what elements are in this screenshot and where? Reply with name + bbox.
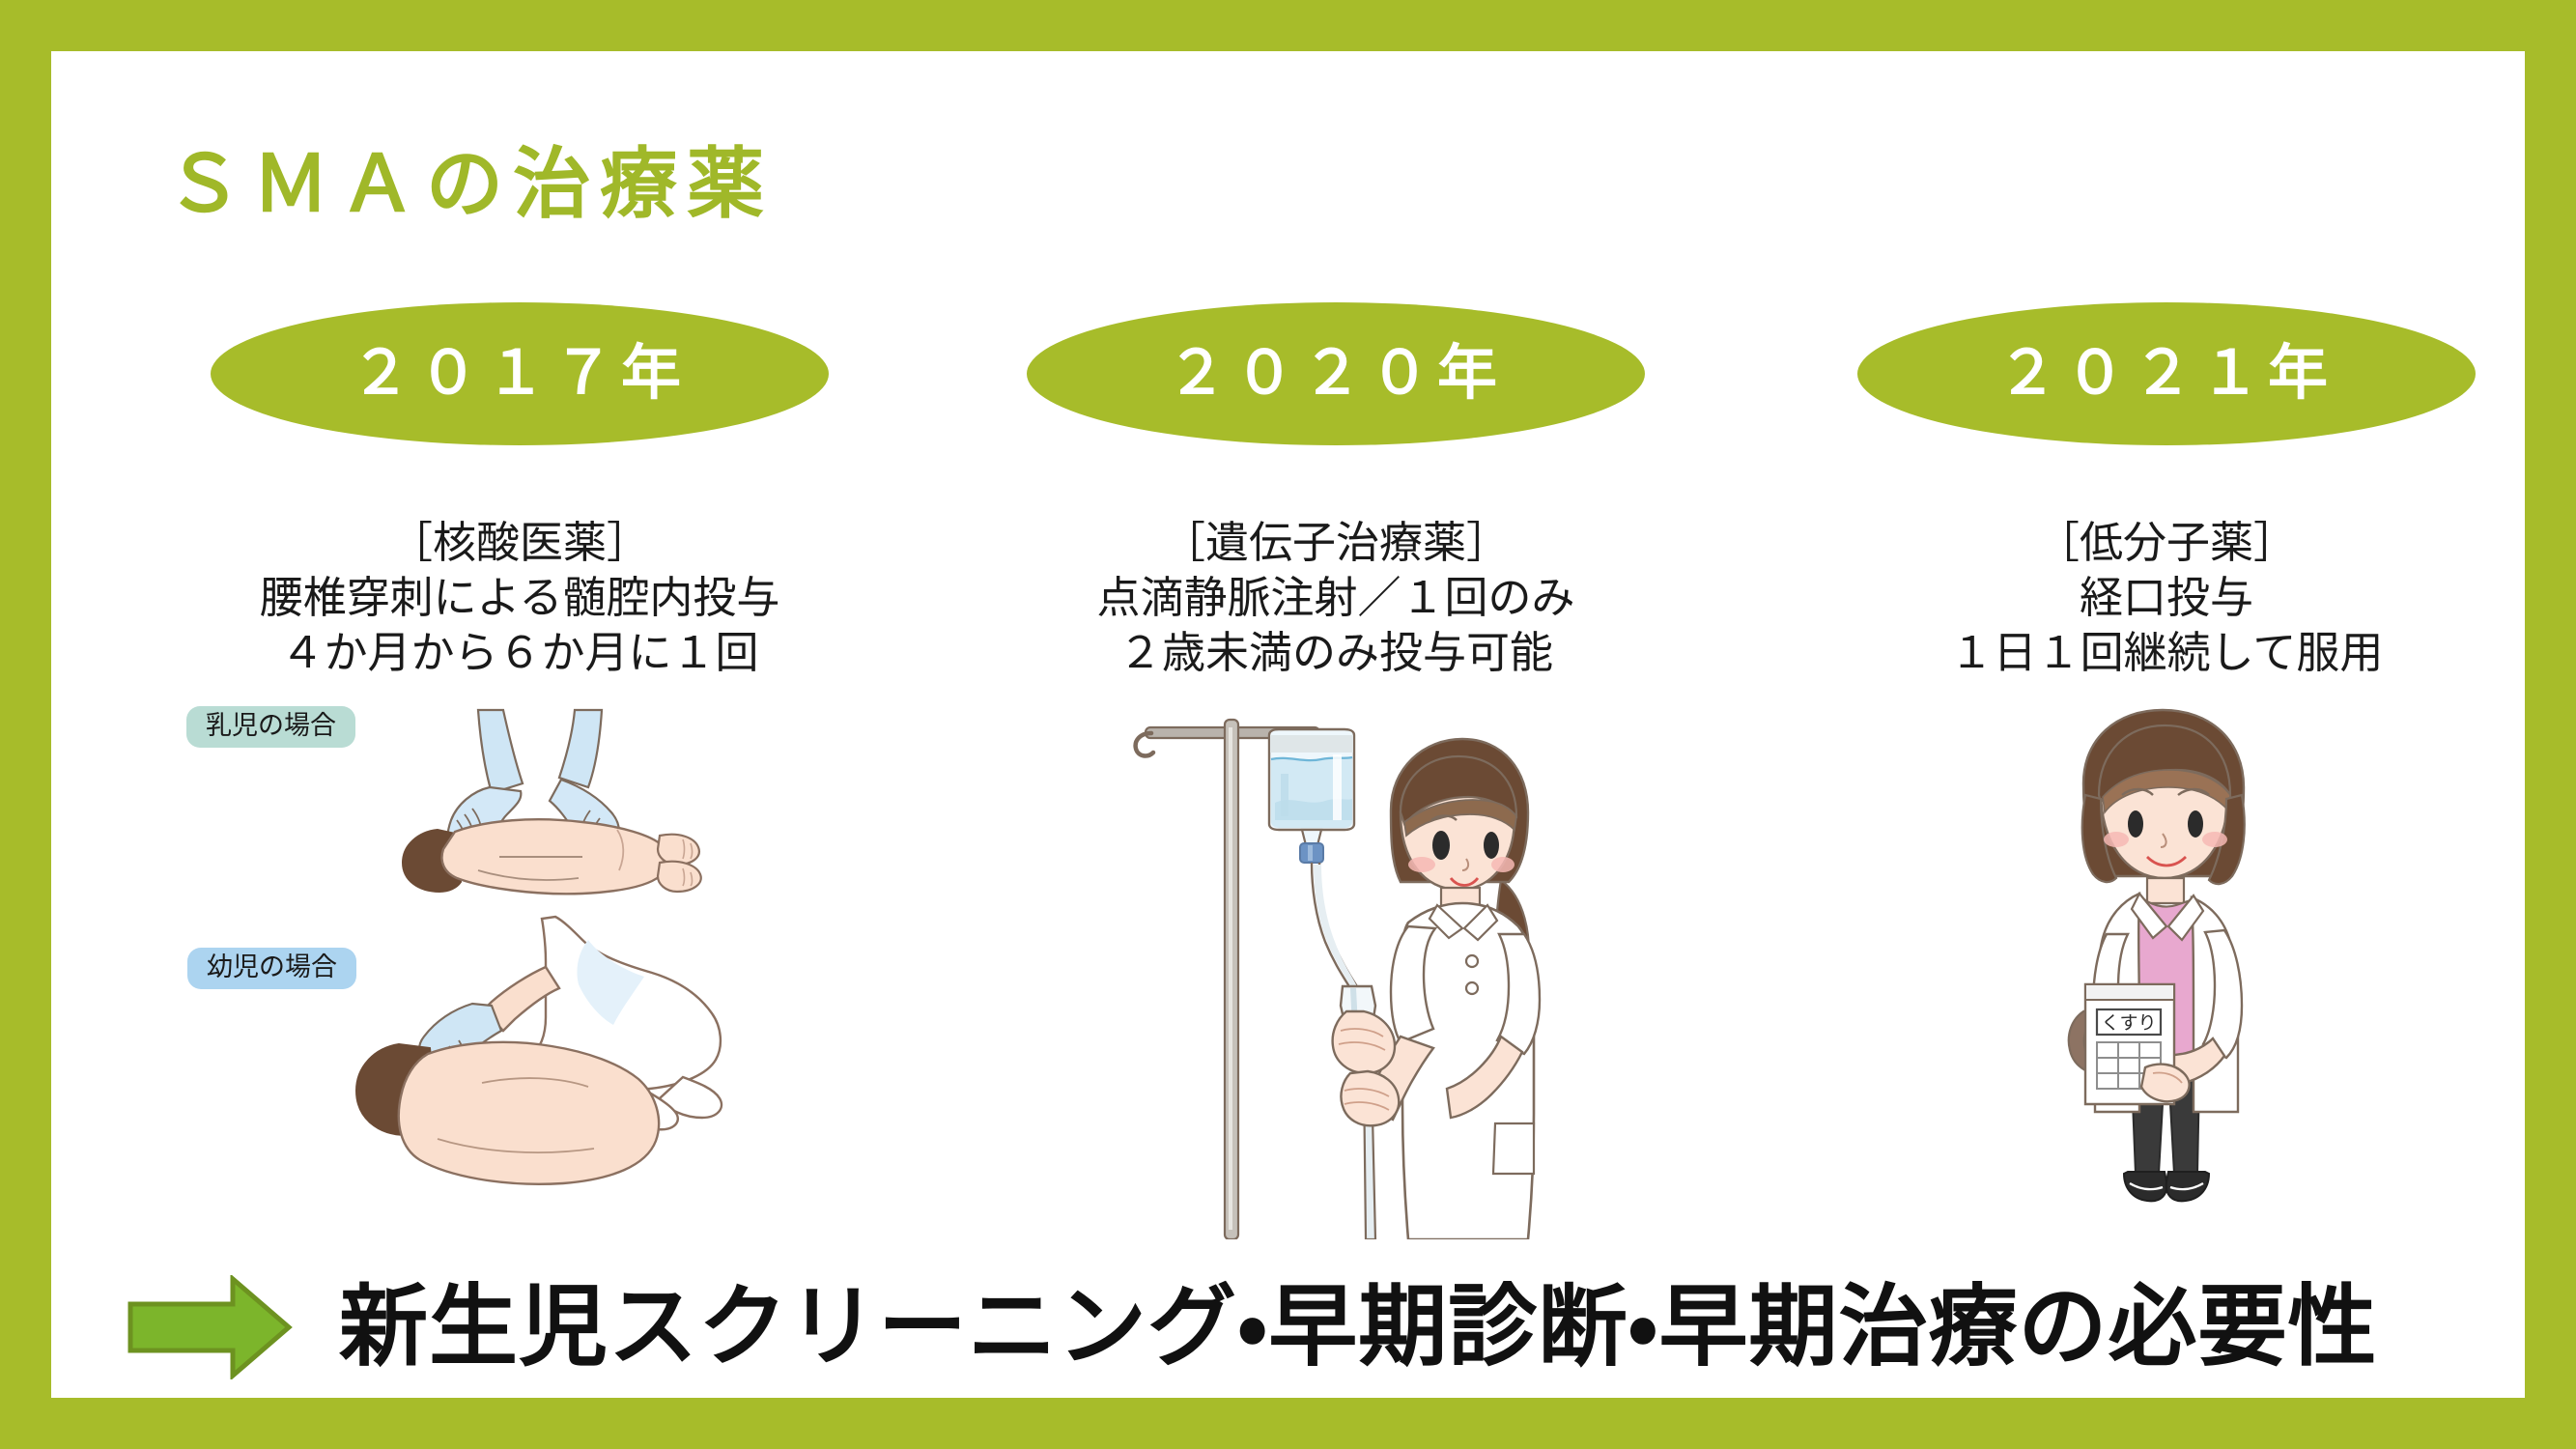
treatment-column-2020: ２０２０年 ［遺伝子治療薬］ 点滴静脈注射／１回のみ ２歳未満のみ投与可能 (949, 283, 1722, 1297)
treatment-description-2021: ［低分子薬］ 経口投与 １日１回継続して服用 (1780, 515, 2553, 680)
packet-label: くすり (2101, 1013, 2156, 1034)
right-arrow-icon (127, 1275, 293, 1379)
year-pill-2021: ２０２１年 (1857, 302, 2476, 445)
treatment-description-2017: ［核酸医薬］ 腰椎穿刺による髄腔内投与 ４か月から６か月に１回 (133, 515, 906, 680)
badge-infant-case: 乳児の場合 (186, 706, 355, 748)
nurse-iv-drip-illustration (949, 698, 1722, 1259)
treatment-column-2017: ２０１７年 ［核酸医薬］ 腰椎穿刺による髄腔内投与 ４か月から６か月に１回 (133, 283, 906, 1297)
frequency-label: ４か月から６か月に１回 (133, 625, 906, 680)
drug-class-label: ［遺伝子治療薬］ (949, 515, 1722, 570)
banner-message: 新生児スクリーニング・早期診断・早期治療の必要性 (339, 1283, 2378, 1372)
lumbar-puncture-svg (293, 698, 747, 1239)
treatment-column-2021: ２０２１年 ［低分子薬］ 経口投与 １日１回継続して服用 (1780, 283, 2553, 1297)
year-pill-2020: ２０２０年 (1027, 302, 1645, 445)
poster-root: ＳＭＡの治療薬 ２０１７年 ［核酸医薬］ 腰椎穿刺による髄腔内投与 ４か月から６… (0, 0, 2576, 1449)
year-label: ２０２１年 (1997, 344, 2335, 404)
route-label: 点滴静脈注射／１回のみ (949, 570, 1722, 625)
year-pill-2017: ２０１７年 (211, 302, 829, 445)
frequency-label: ２歳未満のみ投与可能 (949, 625, 1722, 680)
bottom-banner: 新生児スクリーニング・早期診断・早期治療の必要性 (51, 1257, 2525, 1398)
year-label: ２０２０年 (1167, 344, 1505, 404)
route-label: 経口投与 (1780, 570, 2553, 625)
frequency-label: １日１回継続して服用 (1780, 625, 2553, 680)
doctor-svg: くすり (2022, 698, 2311, 1239)
infant-feet (658, 835, 701, 892)
drug-class-label: ［低分子薬］ (1780, 515, 2553, 570)
treatment-description-2020: ［遺伝子治療薬］ 点滴静脈注射／１回のみ ２歳未満のみ投与可能 (949, 515, 1722, 680)
page-title: ＳＭＡの治療薬 (165, 146, 774, 223)
route-label: 腰椎穿刺による髄腔内投与 (133, 570, 906, 625)
lumbar-puncture-illustration: 乳児の場合 幼児の場合 (133, 698, 906, 1259)
iv-bag (1269, 729, 1354, 863)
infant-scene (403, 710, 701, 894)
year-label: ２０１７年 (351, 344, 689, 404)
toddler-scene (356, 917, 722, 1184)
badge-toddler-case: 幼児の場合 (187, 948, 356, 989)
doctor-medicine-packet-illustration: くすり (1780, 698, 2553, 1259)
poster-canvas: ＳＭＡの治療薬 ２０１７年 ［核酸医薬］ 腰椎穿刺による髄腔内投与 ４か月から６… (51, 51, 2525, 1398)
nurse-iv-drip-svg (1118, 698, 1553, 1239)
drug-class-label: ［核酸医薬］ (133, 515, 906, 570)
